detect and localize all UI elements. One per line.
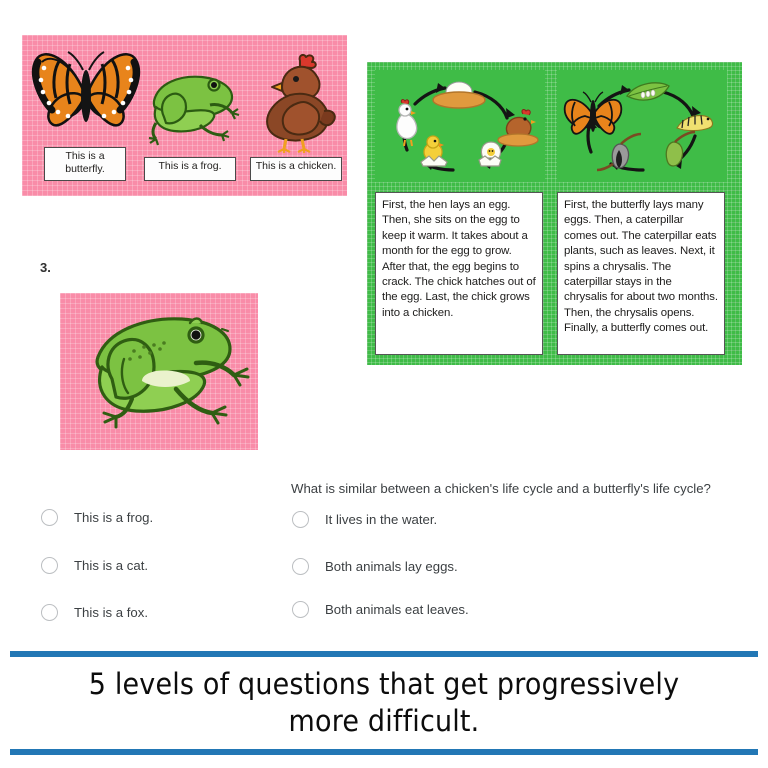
stage-chrysalis-opening <box>597 134 641 170</box>
worksheet-page: This is a butterfly. This is a frog. Thi… <box>0 0 768 768</box>
option-label: This is a frog. <box>74 510 153 525</box>
frog-image <box>140 59 240 149</box>
option-row[interactable]: It lives in the water. <box>292 511 437 528</box>
life-cycles-panel: First, the hen lays an egg. Then, she si… <box>367 62 742 365</box>
question-number: 3. <box>40 260 51 275</box>
label-frog: This is a frog. <box>144 157 236 181</box>
stage-caterpillar <box>677 116 712 131</box>
butterfly-life-cycle-diagram <box>557 70 727 182</box>
option-row[interactable]: Both animals lay eggs. <box>292 558 458 575</box>
chicken-image <box>254 49 338 154</box>
question-prompt: What is similar between a chicken's life… <box>291 480 761 498</box>
label-chicken: This is a chicken. <box>250 157 342 181</box>
bottom-banner: 5 levels of questions that get progressi… <box>10 651 758 755</box>
radio-button-icon[interactable] <box>41 604 58 621</box>
option-label: It lives in the water. <box>325 512 437 527</box>
radio-button-icon[interactable] <box>292 601 309 618</box>
frog-photo-panel <box>60 293 258 450</box>
banner-text: 5 levels of questions that get progressi… <box>36 666 732 740</box>
option-label: Both animals lay eggs. <box>325 559 458 574</box>
option-row[interactable]: Both animals eat leaves. <box>292 601 469 618</box>
option-row[interactable]: This is a frog. <box>41 509 153 526</box>
stage-hen-on-nest <box>498 110 538 146</box>
chicken-life-cycle-diagram <box>375 70 545 182</box>
radio-button-icon[interactable] <box>41 509 58 526</box>
label-butterfly: This is a butterfly. <box>44 147 126 181</box>
stage-white-chicken <box>397 100 417 146</box>
option-row[interactable]: This is a fox. <box>41 604 148 621</box>
option-label: This is a fox. <box>74 605 148 620</box>
chicken-life-cycle-text: First, the hen lays an egg. Then, she si… <box>375 192 543 355</box>
stage-cracking-egg <box>479 142 501 166</box>
radio-button-icon[interactable] <box>292 558 309 575</box>
butterfly-image <box>30 40 142 145</box>
stage-eggs-on-leaf <box>627 83 669 100</box>
radio-button-icon[interactable] <box>41 557 58 574</box>
radio-button-icon[interactable] <box>292 511 309 528</box>
butterfly-life-cycle-text: First, the butterfly lays many eggs. The… <box>557 192 725 355</box>
stage-chrysalis-forming <box>666 132 695 166</box>
animal-identification-panel: This is a butterfly. This is a frog. Thi… <box>22 35 347 196</box>
stage-chick <box>421 136 447 166</box>
option-label: Both animals eat leaves. <box>325 602 469 617</box>
option-row[interactable]: This is a cat. <box>41 557 148 574</box>
option-label: This is a cat. <box>74 558 148 573</box>
frog-image <box>72 305 250 437</box>
stage-butterfly <box>565 92 622 134</box>
